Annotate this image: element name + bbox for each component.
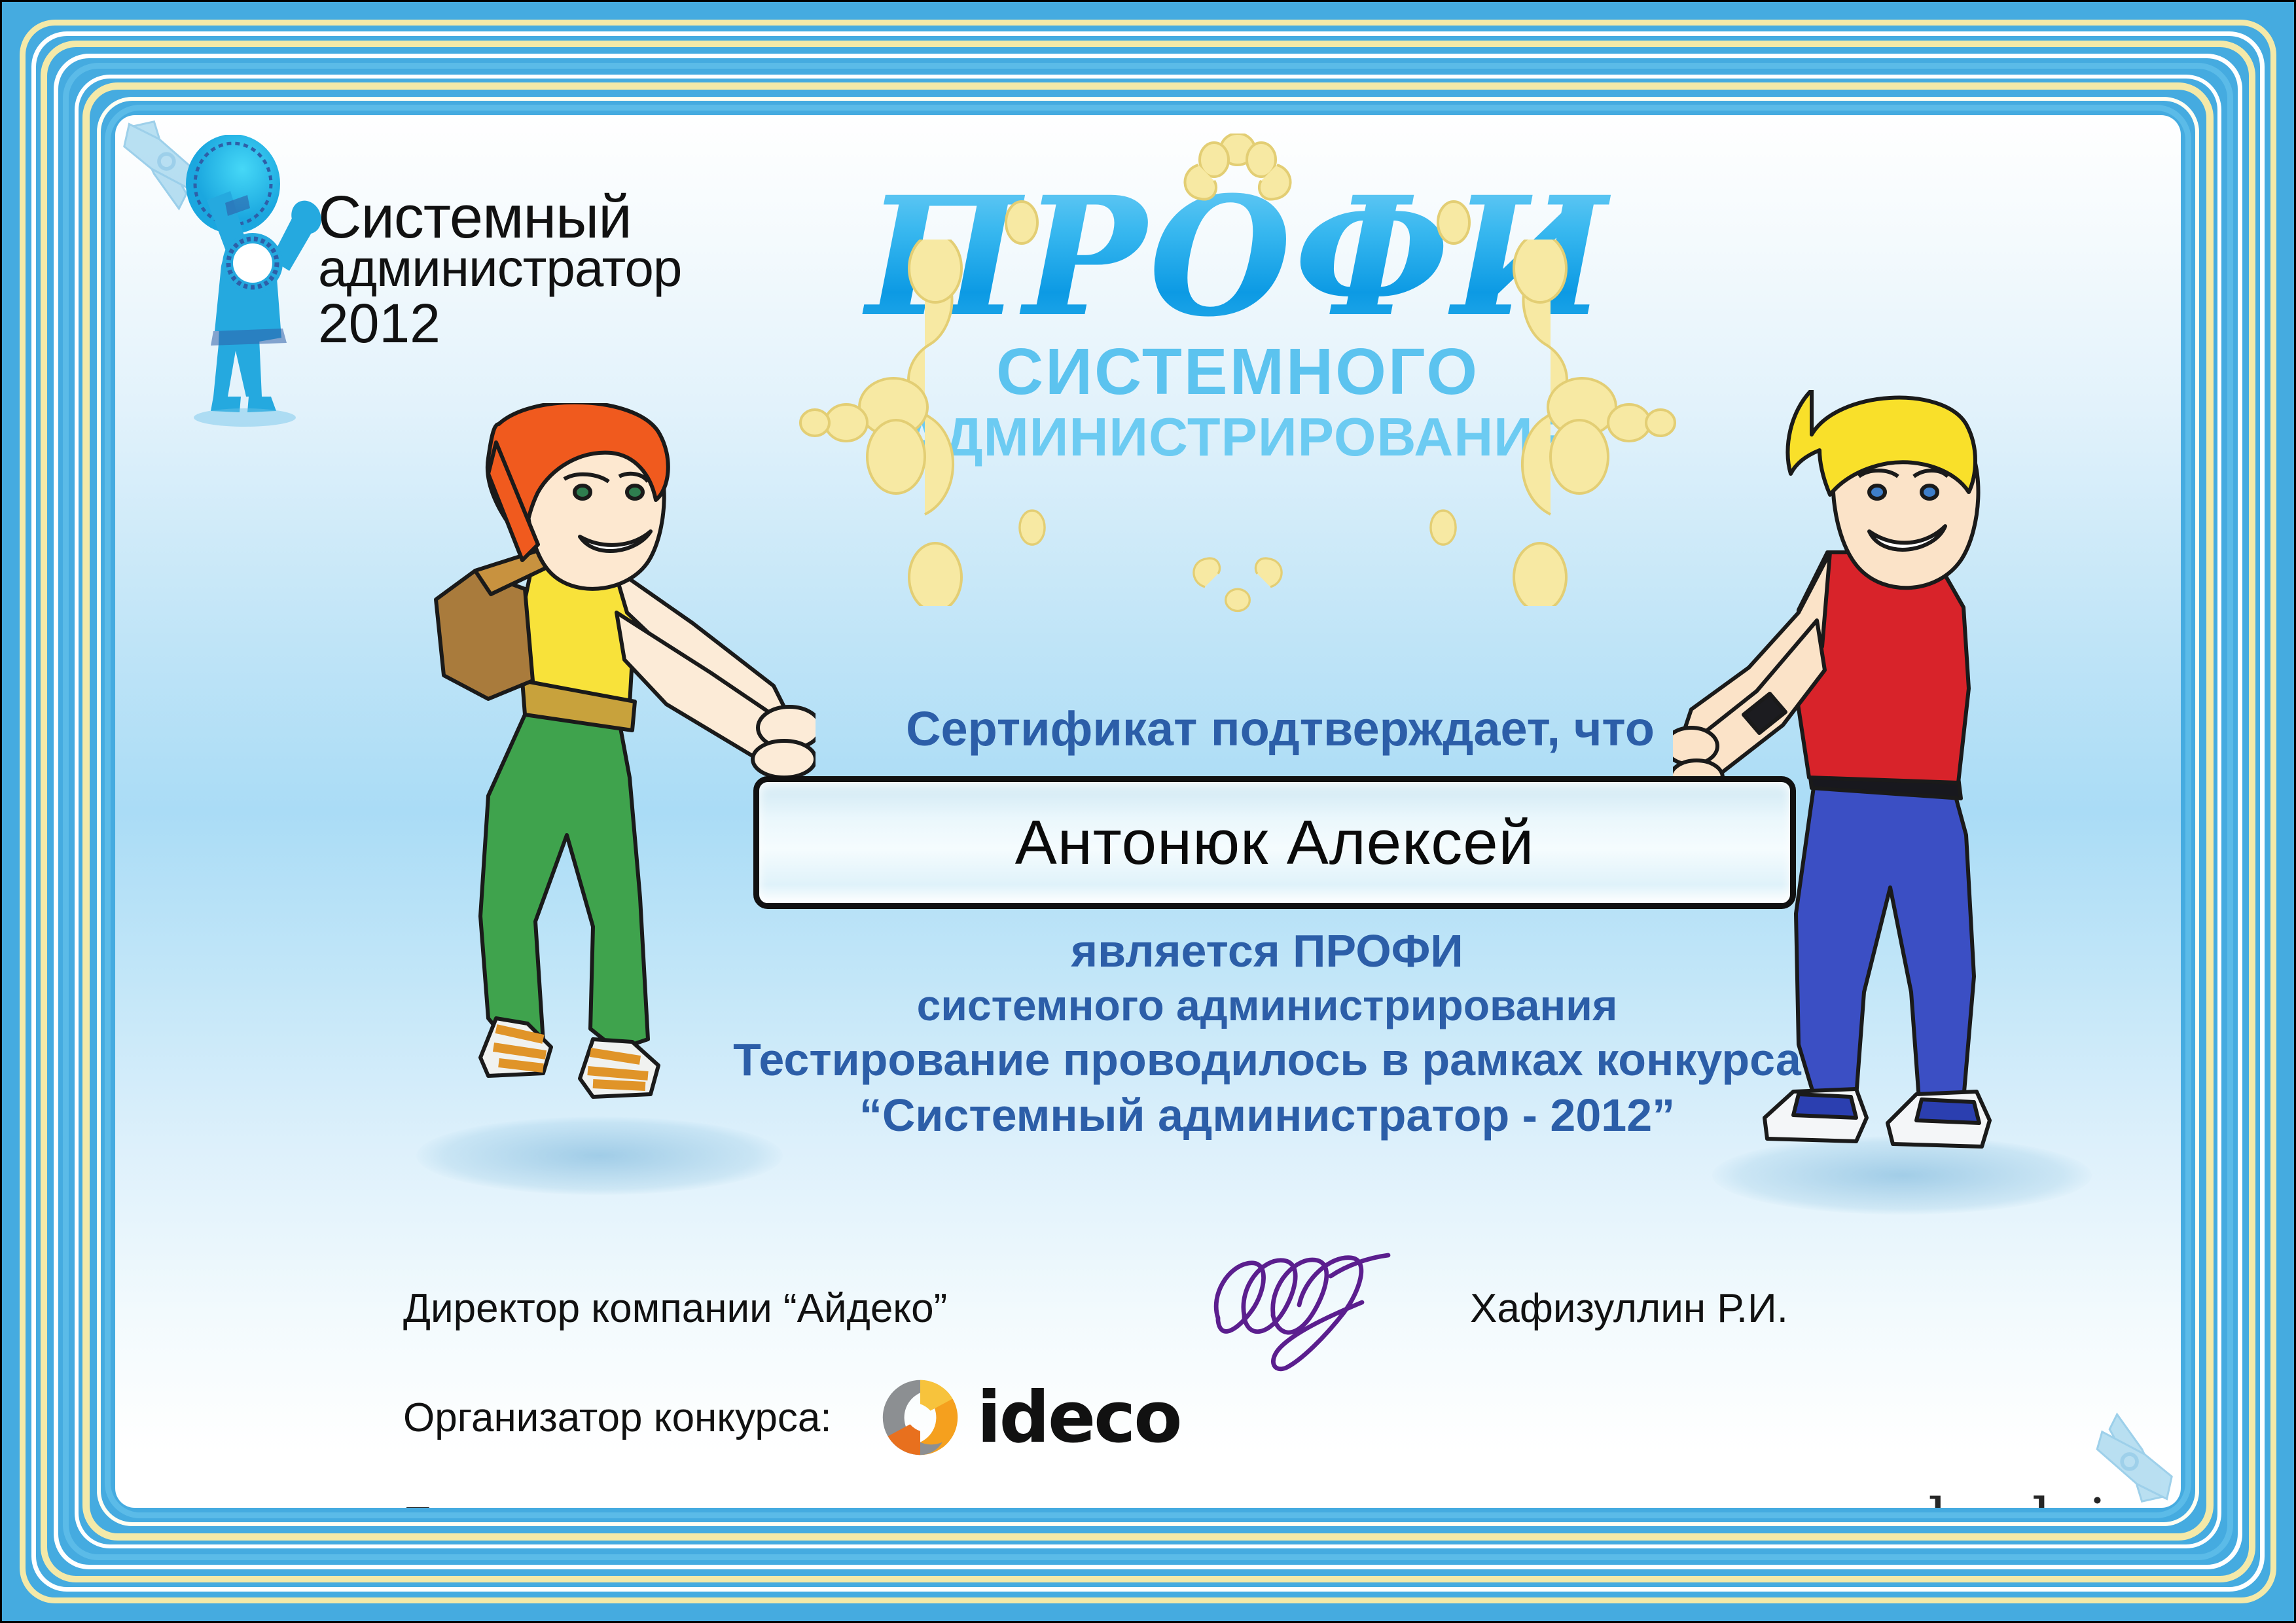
sysadmin-logo-text: Системный администратор 2012 <box>318 187 711 351</box>
certificate-body: является ПРОФИ системного администрирова… <box>704 923 1830 1144</box>
ornament-flourish-right-icon <box>1480 240 1676 606</box>
bashim-logo: bash.im ЦИТАТНИК РУНЕТА <box>1910 1491 2181 1508</box>
director-label: Директор компании “Айдеко” <box>403 1285 947 1332</box>
ideco-wordmark: ideco <box>977 1377 1181 1459</box>
ornament-dot-right-icon <box>1434 200 1473 246</box>
partners-label: Партнеры конкурса: <box>403 1499 708 1508</box>
director-name: Хафизуллин Р.И. <box>1470 1285 1788 1332</box>
sysadmin-logo-line2: администратор <box>318 242 711 294</box>
body-line-4: “Системный администратор - 2012” <box>704 1088 1830 1143</box>
organizer-label: Организатор конкурса: <box>403 1395 832 1441</box>
recipient-nameplate: Антонюк Алексей <box>753 776 1796 909</box>
signature-row: Директор компании “Айдеко” Хафизуллин Р.… <box>403 1274 1529 1352</box>
ideco-ring-icon <box>878 1375 963 1460</box>
certificate-root: Системный администратор 2012 <box>0 0 2296 1623</box>
profi-title-block: ПРОФИ СИСТЕМНОГО АДМИНИСТРИРОВАНИЯ <box>806 141 1670 665</box>
confirm-statement: Сертификат подтверждает, что <box>770 701 1791 757</box>
ornament-flourish-left-icon <box>799 240 996 606</box>
ornament-dot-left-icon <box>1002 200 1041 246</box>
handwritten-signature-icon <box>1205 1247 1401 1372</box>
recipient-name: Антонюк Алексей <box>1015 807 1535 879</box>
organizer-row: Организатор конкурса: ideco <box>403 1372 1180 1463</box>
sysadmin-logo-year: 2012 <box>318 296 711 351</box>
bashim-wordmark: bash.im <box>1910 1491 2181 1508</box>
ideco-logo: ideco <box>878 1375 1181 1460</box>
body-line-2: системного администрирования <box>704 979 1830 1032</box>
body-line-3: Тестирование проводилось в рамках конкур… <box>704 1032 1830 1088</box>
ornament-crown-bottom-icon <box>1172 547 1303 619</box>
ornament-dot-lower-right-icon <box>1426 508 1460 548</box>
ornament-dot-lower-left-icon <box>1015 508 1049 548</box>
certificate-page: Системный администратор 2012 <box>115 115 2181 1508</box>
body-line-1: является ПРОФИ <box>704 923 1830 979</box>
ornament-crown-top-icon <box>1159 134 1316 205</box>
partners-row: Партнеры конкурса: KASPERSKY lab SkyDNS … <box>403 1493 2181 1508</box>
